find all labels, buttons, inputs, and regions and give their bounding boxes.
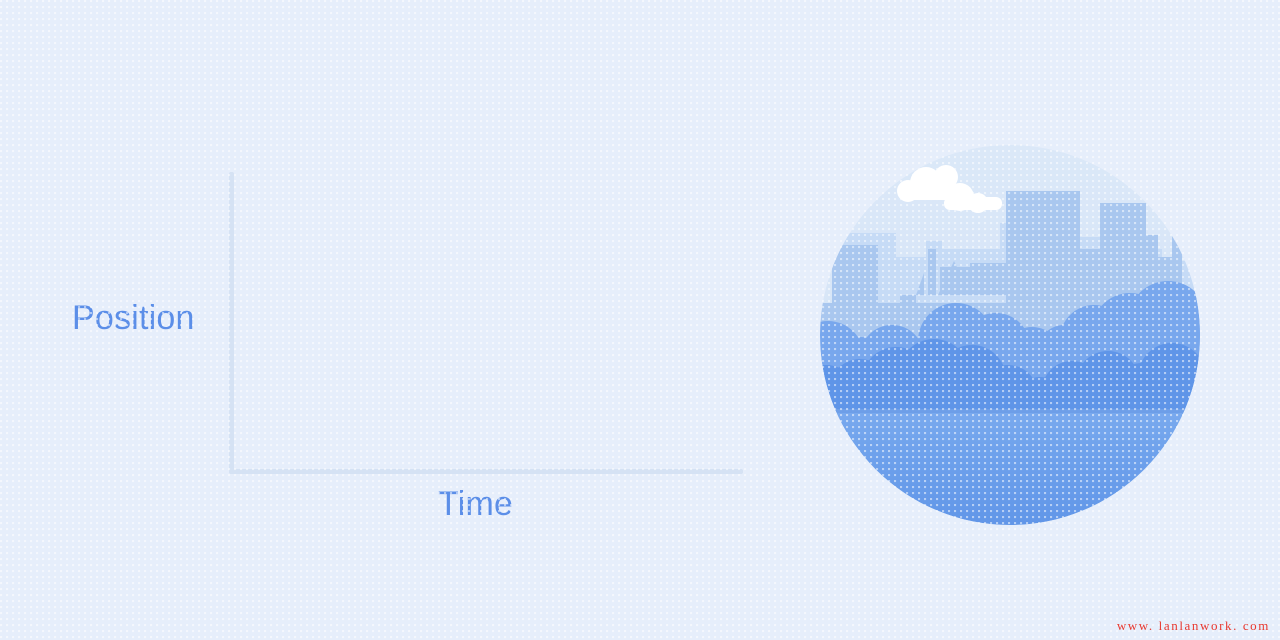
y-axis-line <box>229 172 234 474</box>
position-time-graph <box>229 172 743 474</box>
y-axis-label: Position <box>72 299 195 338</box>
water-layer <box>820 409 1200 525</box>
x-axis-label: Time <box>438 485 513 524</box>
shoreline <box>820 409 1200 413</box>
illustration-stage: Position Time <box>0 0 1280 640</box>
city-scene-svg <box>820 145 1200 525</box>
city-waterfront-illustration <box>820 145 1200 525</box>
x-axis-line <box>229 469 743 474</box>
watermark: www. lanlanwork. com <box>1117 618 1270 634</box>
